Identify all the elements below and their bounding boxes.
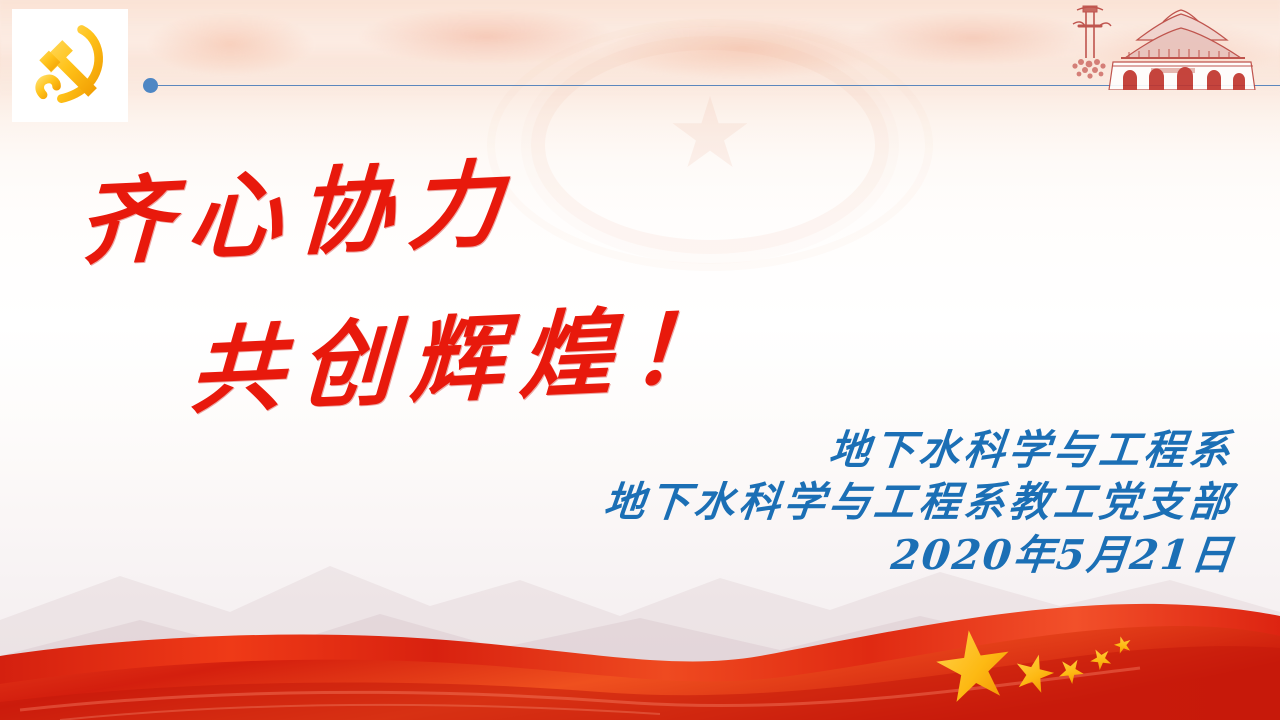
star-icon-5 [1111,633,1136,658]
party-emblem-card [12,9,128,122]
tiananmen-gate-icon [1055,0,1280,90]
national-emblem-watermark [470,20,950,270]
headline-line-1: 齐心协力 [75,128,520,284]
five-stars-group [928,600,1168,720]
subtitle-department: 地下水科学与工程系 [601,424,1237,476]
subtitle-group: 地下水科学与工程系 地下水科学与工程系教工党支部 2020年5月21日 [604,424,1234,581]
star-icon-2 [1010,650,1058,698]
star-icon-3 [1053,653,1089,689]
subtitle-party-branch: 地下水科学与工程系教工党支部 [601,476,1237,528]
star-icon-4 [1085,643,1116,674]
headline-line-2: 共创辉煌！ [187,271,742,432]
presentation-slide: 齐心协力 共创辉煌！ 地下水科学与工程系 地下水科学与工程系教工党支部 2020… [0,0,1280,720]
star-icon-1 [931,625,1017,711]
hammer-and-sickle-icon [22,18,118,114]
divider-dot-icon [143,78,158,93]
